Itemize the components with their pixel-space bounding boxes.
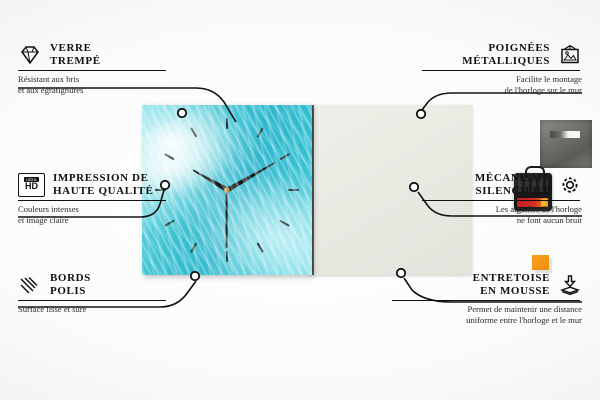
callout-title-line2: MÉTALLIQUES	[462, 55, 550, 68]
callout-subtitle-line2: et aux égratignures	[18, 85, 168, 96]
callout-header: BORDS POLIS	[18, 272, 168, 297]
callout-header: ENTRETOISE EN MOUSSE	[392, 272, 582, 297]
feather-highlight-secondary	[178, 153, 312, 275]
callout-rule	[422, 70, 580, 71]
callout-rule	[422, 200, 580, 201]
polished-edge-lines-icon	[18, 274, 42, 296]
infographic-canvas: VERRE TREMPÉ Résistant aux bris et aux é…	[0, 0, 600, 400]
foam-spacer-arrow-icon	[558, 274, 582, 296]
clock-tick	[288, 189, 299, 191]
callout-title-line2: POLIS	[50, 285, 91, 298]
callout-poignees-metalliques: POIGNÉES MÉTALLIQUES Facilite le montage…	[422, 42, 582, 95]
picture-frame-icon	[558, 44, 582, 66]
gear-icon	[558, 174, 582, 196]
callout-header: MÉCANISME SILENCIEUX	[422, 172, 582, 197]
callout-subtitle-line1: Les aiguilles de l'horloge	[422, 204, 582, 215]
callout-title-line1: POIGNÉES	[462, 42, 550, 55]
callout-bords-polis: BORDS POLIS Surface lisse et sûre	[18, 272, 168, 315]
callout-subtitle-line1: Facilite le montage	[422, 74, 582, 85]
callout-title-line2: TREMPÉ	[50, 55, 101, 68]
clock-center-hub	[224, 187, 230, 193]
clock-tick	[257, 242, 264, 253]
clock-minute-hand	[226, 160, 276, 192]
metal-hanger-plate	[540, 120, 592, 168]
callout-impression-haute-qualite: ultra HD IMPRESSION DE HAUTE QUALITÉ Cou…	[18, 172, 168, 225]
callout-subtitle-line2: ne font aucun bruit	[422, 215, 582, 226]
callout-title-line1: BORDS	[50, 272, 91, 285]
callout-header: ultra HD IMPRESSION DE HAUTE QUALITÉ	[18, 172, 168, 197]
callout-header: VERRE TREMPÉ	[18, 42, 168, 67]
callout-title-line2: EN MOUSSE	[473, 285, 550, 298]
callout-subtitle-line2: de l'horloge sur le mur	[422, 85, 582, 96]
diamond-icon	[18, 44, 42, 66]
callout-title-line2: HAUTE QUALITÉ	[53, 185, 153, 198]
clock-tick	[226, 251, 228, 262]
callout-verre-trempe: VERRE TREMPÉ Résistant aux bris et aux é…	[18, 42, 168, 95]
callout-rule	[18, 300, 166, 301]
callout-entretoise-en-mousse: ENTRETOISE EN MOUSSE Permet de maintenir…	[392, 272, 582, 325]
clock-hour-hand	[191, 168, 228, 192]
callout-title-line1: MÉCANISME	[475, 172, 550, 185]
clock-tick	[279, 220, 290, 227]
callout-mecanisme-silencieux: MÉCANISME SILENCIEUX Les aiguilles de l'…	[422, 172, 582, 225]
clock-tick	[226, 118, 228, 129]
clock-second-hand	[226, 190, 228, 248]
callout-subtitle-line1: Permet de maintenir une distance	[392, 304, 582, 315]
callout-title-line1: IMPRESSION DE	[53, 172, 153, 185]
ultra-hd-badge-icon: ultra HD	[18, 173, 45, 197]
callout-header: POIGNÉES MÉTALLIQUES	[422, 42, 582, 67]
callout-title-line2: SILENCIEUX	[475, 185, 550, 198]
hanger-slot	[550, 131, 580, 138]
clock-tick	[190, 242, 197, 253]
callout-subtitle-line1: Surface lisse et sûre	[18, 304, 168, 315]
clock-tick	[190, 127, 197, 138]
clock-tick	[279, 153, 290, 160]
callout-subtitle-line1: Couleurs intenses	[18, 204, 168, 215]
clock-tick	[164, 153, 175, 160]
callout-rule	[392, 300, 580, 301]
callout-subtitle-line1: Résistant aux bris	[18, 74, 168, 85]
callout-title-line1: VERRE	[50, 42, 101, 55]
callout-title-line1: ENTRETOISE	[473, 272, 550, 285]
clock-tick	[257, 127, 264, 138]
callout-rule	[18, 70, 166, 71]
callout-subtitle-line2: et image claire	[18, 215, 168, 226]
callout-rule	[18, 200, 166, 201]
callout-subtitle-line2: uniforme entre l'horloge et le mur	[392, 315, 582, 326]
foam-spacer	[532, 255, 549, 270]
hd-label: HD	[25, 182, 38, 192]
